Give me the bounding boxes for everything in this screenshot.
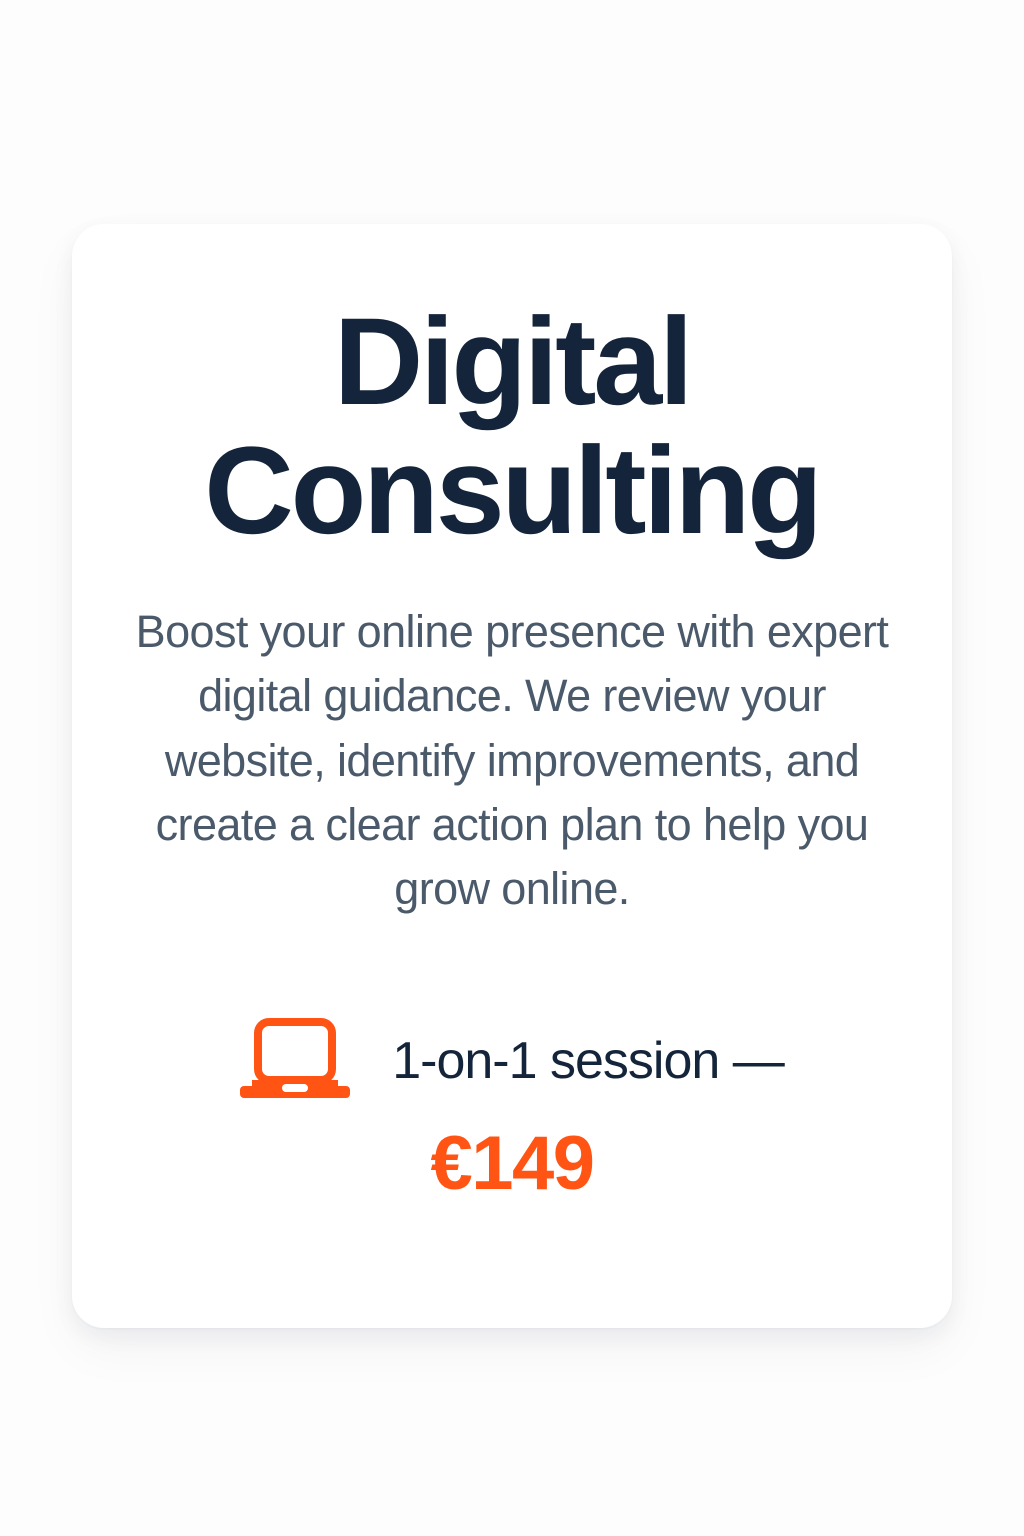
page-background: Digital Consulting Boost your online pre… <box>0 0 1024 1536</box>
page-title: Digital Consulting <box>124 298 900 556</box>
offer-block: 1-on-1 session — €149 <box>124 1018 900 1202</box>
service-pricing-card[interactable]: Digital Consulting Boost your online pre… <box>72 224 952 1328</box>
offer-row: 1-on-1 session — <box>240 1018 784 1104</box>
offer-label: 1-on-1 session — <box>392 1035 784 1087</box>
laptop-icon <box>240 1018 350 1104</box>
price-amount: €149 <box>430 1126 593 1202</box>
card-description: Boost your online presence with expert d… <box>126 600 898 922</box>
